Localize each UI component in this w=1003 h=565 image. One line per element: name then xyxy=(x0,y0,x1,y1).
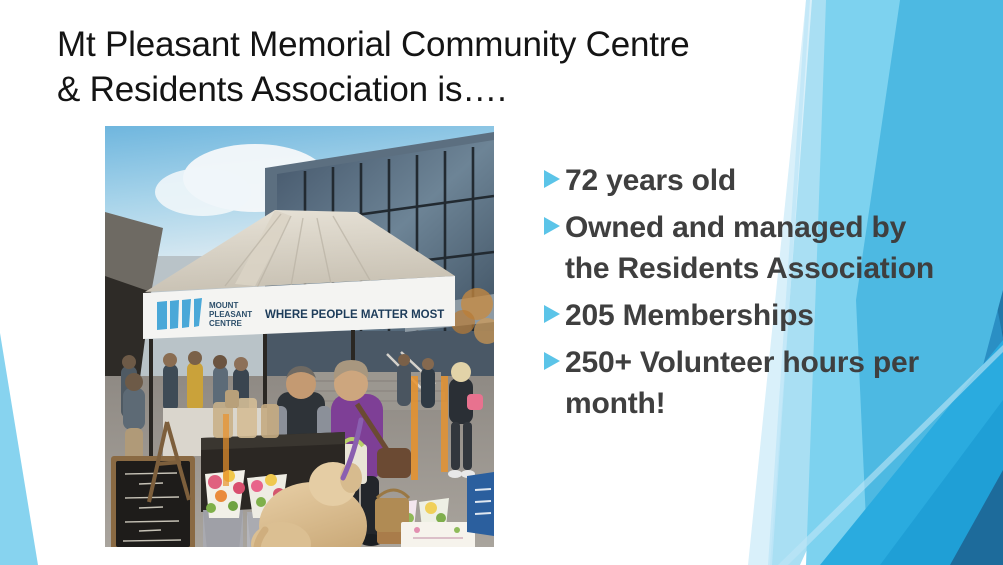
triangle-right-icon xyxy=(543,295,565,324)
list-item-label: 72 years old xyxy=(565,160,736,201)
slide-canvas: Mt Pleasant Memorial Community Centre & … xyxy=(0,0,1003,565)
list-item[interactable]: 72 years old xyxy=(543,160,943,201)
decor-shape-navy-lower-right xyxy=(950,470,1003,565)
photo-price-card xyxy=(401,522,475,547)
list-item[interactable]: 250+ Volunteer hours per month! xyxy=(543,342,943,424)
photo-banner-tagline: WHERE PEOPLE MATTER MOST xyxy=(265,309,444,321)
photo-blue-sign xyxy=(467,472,494,536)
list-item[interactable]: Owned and managed by the Residents Assoc… xyxy=(543,207,943,289)
svg-text:PLEASANT: PLEASANT xyxy=(209,310,252,319)
list-item[interactable]: 205 Memberships xyxy=(543,295,943,336)
facts-bullet-list: 72 years old Owned and managed by the Re… xyxy=(543,160,943,430)
svg-text:CENTRE: CENTRE xyxy=(209,319,243,328)
decor-left-sliver xyxy=(0,333,38,565)
triangle-right-icon xyxy=(543,342,565,371)
svg-text:MOUNT: MOUNT xyxy=(209,301,238,310)
page-title: Mt Pleasant Memorial Community Centre & … xyxy=(57,22,777,112)
list-item-label: 205 Memberships xyxy=(565,295,814,336)
triangle-right-icon xyxy=(543,207,565,236)
photo-cloud-2 xyxy=(155,168,251,216)
list-item-label: Owned and managed by the Residents Assoc… xyxy=(565,207,943,289)
page-title-line-2: & Residents Association is…. xyxy=(57,67,777,112)
list-item-label: 250+ Volunteer hours per month! xyxy=(565,342,943,424)
market-photo-image: MOUNT PLEASANT CENTRE WHERE PEOPLE MATTE… xyxy=(105,126,494,547)
market-photo: MOUNT PLEASANT CENTRE WHERE PEOPLE MATTE… xyxy=(105,126,494,547)
page-title-line-1: Mt Pleasant Memorial Community Centre xyxy=(57,22,777,67)
triangle-right-icon xyxy=(543,160,565,189)
